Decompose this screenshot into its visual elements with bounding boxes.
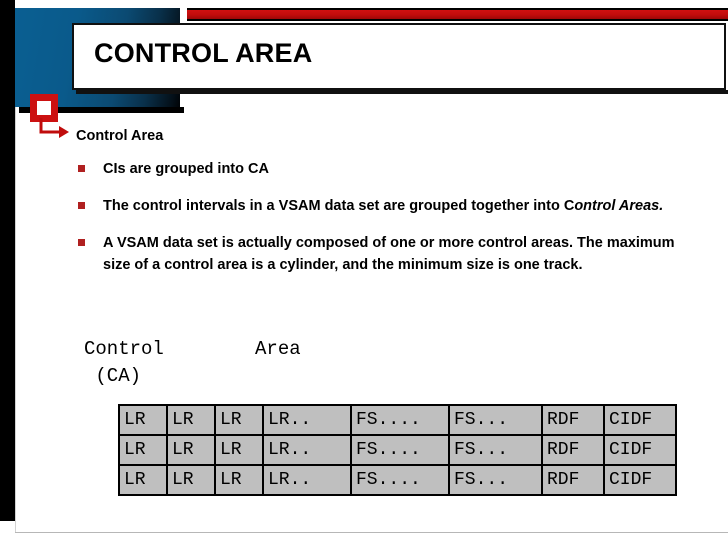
- list-item-text: CIs are grouped into CA: [103, 161, 269, 177]
- table-cell: RDF: [542, 465, 604, 495]
- table-cell: RDF: [542, 435, 604, 465]
- table-row: LRLRLRLR..FS....FS...RDFCIDF: [119, 435, 676, 465]
- list-item-text: The control intervals in a VSAM data set…: [103, 198, 574, 214]
- bullet-square-icon: [78, 202, 85, 209]
- table-cell: RDF: [542, 405, 604, 435]
- slide-left-rule: [15, 103, 16, 533]
- control-area-diagram-table: LRLRLRLR..FS....FS...RDFCIDFLRLRLRLR..FS…: [118, 404, 677, 496]
- elbow-arrow-right-icon: [38, 118, 74, 140]
- table-cell: LR: [215, 435, 263, 465]
- table-cell: LR: [119, 435, 167, 465]
- table-row: LRLRLRLR..FS....FS...RDFCIDF: [119, 405, 676, 435]
- list-item: A VSAM data set is actually composed of …: [78, 232, 678, 276]
- table-cell: LR: [215, 405, 263, 435]
- list-item: The control intervals in a VSAM data set…: [78, 195, 678, 217]
- control-area-caption: Control Area (CA): [84, 336, 301, 390]
- table-cell: LR: [119, 405, 167, 435]
- list-item-label: CIs are grouped into CA: [103, 158, 678, 180]
- bullet-square-icon: [78, 165, 85, 172]
- list-item-label: The control intervals in a VSAM data set…: [103, 195, 678, 217]
- list-item: CIs are grouped into CA: [78, 158, 678, 180]
- bullet-list: CIs are grouped into CA The control inte…: [78, 158, 678, 291]
- table-cell: FS....: [351, 435, 449, 465]
- table-cell: LR: [215, 465, 263, 495]
- table-cell: FS...: [449, 435, 542, 465]
- table-cell: LR: [167, 405, 215, 435]
- table-cell: FS....: [351, 465, 449, 495]
- list-item-text-italic: ontrol Areas.: [574, 198, 663, 214]
- table-cell: LR..: [263, 435, 351, 465]
- slide-bottom-rule: [15, 532, 728, 533]
- bullet-square-icon: [78, 239, 85, 246]
- lead-label: Control Area: [76, 128, 163, 144]
- table-cell: CIDF: [604, 465, 676, 495]
- top-red-bar-fill: [187, 10, 728, 19]
- table-cell: LR: [167, 435, 215, 465]
- title-plate-shadow: [76, 90, 728, 94]
- table-cell: LR..: [263, 465, 351, 495]
- list-item-label: A VSAM data set is actually composed of …: [103, 232, 678, 276]
- table-row: LRLRLRLR..FS....FS...RDFCIDF: [119, 465, 676, 495]
- table-cell: FS...: [449, 465, 542, 495]
- table-cell: LR: [167, 465, 215, 495]
- table-cell: LR: [119, 465, 167, 495]
- table-cell: FS....: [351, 405, 449, 435]
- table-cell: CIDF: [604, 405, 676, 435]
- list-item-text: A VSAM data set is actually composed of …: [103, 235, 675, 273]
- table-cell: FS...: [449, 405, 542, 435]
- table-body: LRLRLRLR..FS....FS...RDFCIDFLRLRLRLR..FS…: [119, 405, 676, 495]
- red-square-marker-center: [37, 101, 51, 115]
- table-cell: CIDF: [604, 435, 676, 465]
- table-cell: LR..: [263, 405, 351, 435]
- page-title: CONTROL AREA: [94, 38, 312, 69]
- slide-canvas: CONTROL AREA Control Area CIs are groupe…: [0, 0, 728, 546]
- left-black-bar: [0, 0, 15, 521]
